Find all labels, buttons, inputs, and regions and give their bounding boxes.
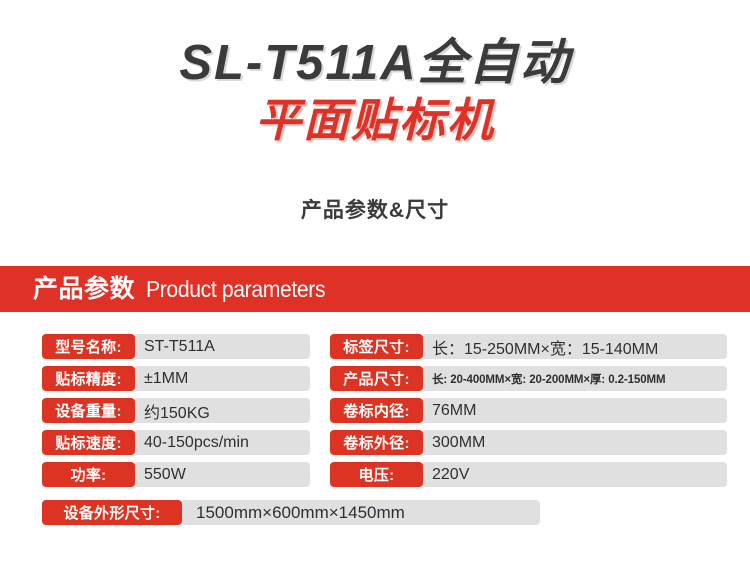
spec-value: ST-T511A xyxy=(133,334,310,359)
product-spec-page: SL-T511A全自动 平面贴标机 产品参数&尺寸 产品参数 Product p… xyxy=(0,0,750,561)
spec-label: 标签尺寸: xyxy=(330,334,423,359)
spec-label: 功率: xyxy=(42,462,135,487)
section-banner-label-cn: 产品参数 xyxy=(33,266,135,312)
spec-value: 76MM xyxy=(421,398,727,423)
spec-label: 设备重量: xyxy=(42,398,135,423)
spec-row: 型号名称: ST-T511A xyxy=(42,334,310,359)
spec-label: 电压: xyxy=(330,462,423,487)
spec-value: 220V xyxy=(421,462,727,487)
page-title-secondary: 平面贴标机 xyxy=(0,92,750,148)
spec-label: 卷标外径: xyxy=(330,430,423,455)
spec-label: 卷标内径: xyxy=(330,398,423,423)
spec-label: 设备外形尺寸: xyxy=(42,500,182,525)
spec-row: 卷标外径: 300MM xyxy=(330,430,727,455)
spec-value: ±1MM xyxy=(133,366,310,391)
spec-row: 设备外形尺寸: 1500mm×600mm×1450mm xyxy=(42,500,540,525)
spec-row: 功率: 550W xyxy=(42,462,310,487)
spec-value: 550W xyxy=(133,462,310,487)
spec-label: 型号名称: xyxy=(42,334,135,359)
spec-label: 贴标速度: xyxy=(42,430,135,455)
spec-value: 1500mm×600mm×1450mm xyxy=(180,500,540,525)
title-block: SL-T511A全自动 平面贴标机 xyxy=(0,34,750,148)
page-subtitle: 产品参数&尺寸 xyxy=(0,196,750,226)
spec-value: 40-150pcs/min xyxy=(133,430,310,455)
section-banner: 产品参数 Product parameters xyxy=(0,266,750,312)
spec-row: 产品尺寸: 长: 20-400MM×宽: 20-200MM×厚: 0.2-150… xyxy=(330,366,727,391)
spec-row: 标签尺寸: 长：15-250MM×宽：15-140MM xyxy=(330,334,727,359)
spec-value: 长: 20-400MM×宽: 20-200MM×厚: 0.2-150MM xyxy=(421,366,727,391)
spec-value: 长：15-250MM×宽：15-140MM xyxy=(421,334,727,359)
spec-table: 型号名称: ST-T511A 贴标精度: ±1MM 设备重量: 约150KG 贴… xyxy=(0,334,750,549)
spec-row: 贴标精度: ±1MM xyxy=(42,366,310,391)
page-title-primary: SL-T511A全自动 xyxy=(0,34,750,92)
spec-row: 卷标内径: 76MM xyxy=(330,398,727,423)
spec-label: 贴标精度: xyxy=(42,366,135,391)
spec-value: 约150KG xyxy=(133,398,310,423)
section-banner-label-en: Product parameters xyxy=(146,266,325,312)
spec-label: 产品尺寸: xyxy=(330,366,423,391)
spec-row: 电压: 220V xyxy=(330,462,727,487)
spec-value: 300MM xyxy=(421,430,727,455)
spec-row: 设备重量: 约150KG xyxy=(42,398,310,423)
spec-row: 贴标速度: 40-150pcs/min xyxy=(42,430,310,455)
